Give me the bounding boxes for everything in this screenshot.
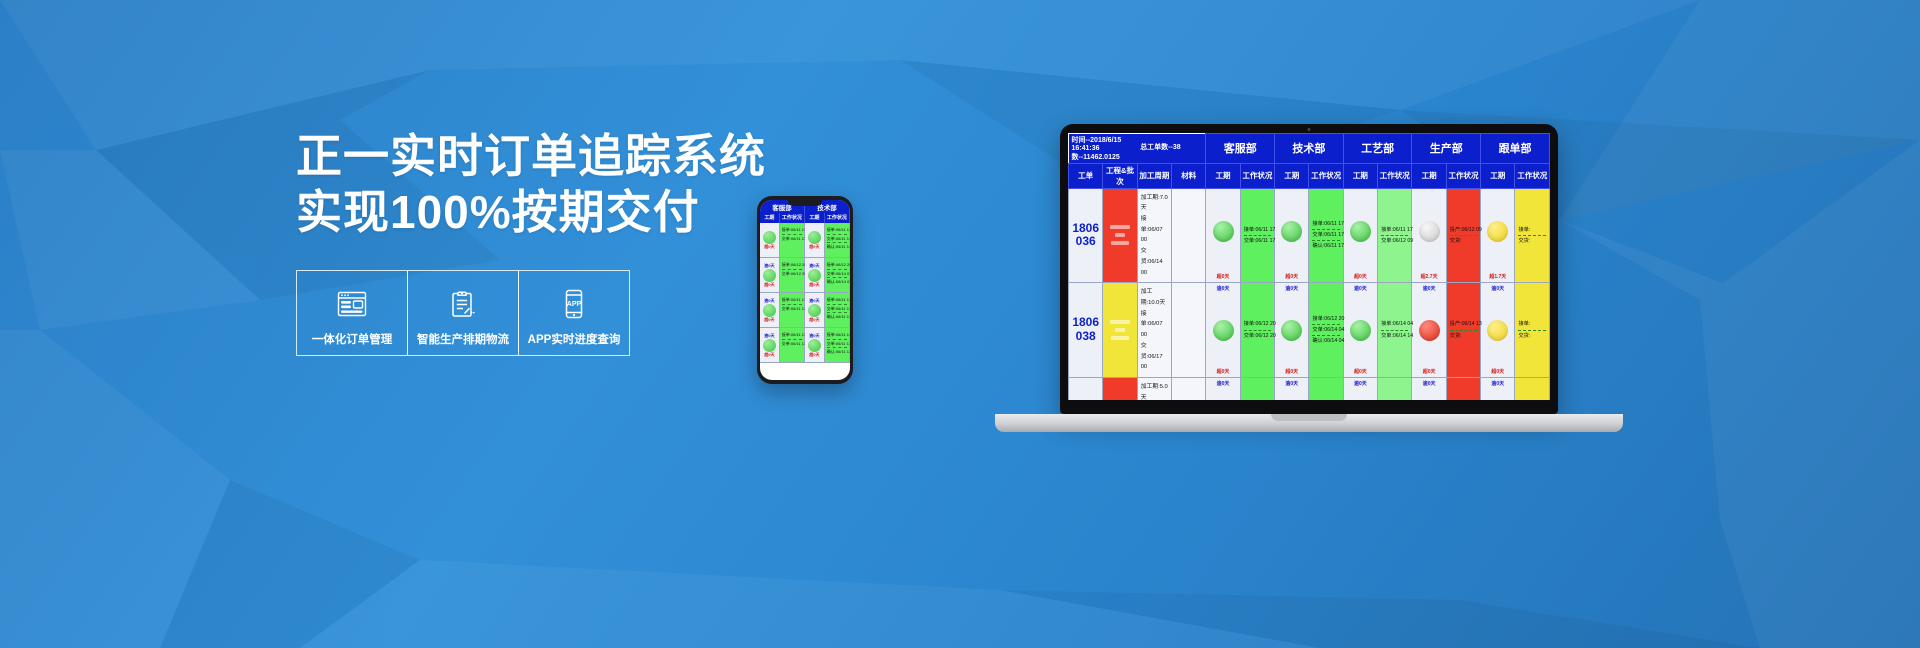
- column-header-生产部-工作状况: 工作状况: [1446, 163, 1480, 188]
- phone-status-line: 接单:06/11 17: [782, 296, 802, 305]
- info-bar-right: 总工单数--38: [1137, 134, 1206, 164]
- column-header-客服部-工作状况: 工作状况: [1240, 163, 1274, 188]
- status-dot-icon: [1487, 320, 1508, 341]
- phone-status-line: 交单:06/11 17: [827, 305, 847, 314]
- phone-column-header: 工期 工作状况 工期 工作状况: [760, 213, 850, 223]
- status-line: 确认:06/14 04: [1312, 336, 1339, 346]
- phone-status-line: 交单:06/11 17: [782, 305, 802, 313]
- period-line: 交货:06/14 00: [1141, 246, 1168, 278]
- duration-tag-top: 逾0天: [1491, 285, 1504, 292]
- dept-header-1: 技术部: [1275, 134, 1344, 164]
- status-dot-icon: [808, 231, 821, 244]
- status-dot-icon: [808, 339, 821, 352]
- phone-tag-top: 逾0天: [760, 333, 779, 339]
- period-line: 加工期:7.0天: [1141, 193, 1168, 214]
- phone-status-line: 交单:06/11 17: [782, 340, 802, 348]
- laptop-base: [995, 414, 1623, 432]
- phone-table-row[interactable]: 逾0天超0天接单:06/11 17交单:06/11 17逾0天超0天接单:06/…: [760, 293, 850, 328]
- phone-status-cell: 接单:06/11 17交单:06/11 17: [780, 328, 805, 362]
- feature-label: APP实时进度查询: [528, 331, 621, 347]
- status-line: 接单:06/12 20: [1244, 319, 1271, 330]
- status-dot-icon: [1213, 320, 1234, 341]
- status-line: 接单:06/11 17: [1312, 219, 1339, 230]
- phone-tag-bottom: 超0天: [760, 317, 779, 323]
- column-header-加工周期: 加工周期: [1137, 163, 1171, 188]
- phone-status-line: 接单:06/11 17: [782, 226, 802, 235]
- phone-status-line: 交单:06/11 17: [782, 235, 802, 243]
- status-line: 交货:: [1518, 236, 1546, 246]
- processing-period-cell: 加工期:7.0天接单:06/07 00交货:06/14 00: [1137, 188, 1171, 283]
- phone-tag-top: 逾0天: [760, 263, 779, 269]
- phone-tag-bottom: 超0天: [805, 244, 824, 250]
- work-order-cell[interactable]: 1806039: [1069, 378, 1103, 401]
- duration-tag-top: 逾0天: [1423, 380, 1436, 387]
- status-line: 接单:: [1518, 319, 1546, 330]
- feature-item-order-management[interactable]: 一体化订单管理: [296, 270, 408, 356]
- table-row[interactable]: 1806039加工期:5.0天接单:06/09 00交货:06/14 00逾0天…: [1069, 378, 1550, 401]
- phone-col-0: 工期: [760, 213, 780, 223]
- feature-item-production-scheduling[interactable]: 智能生产排期物流: [407, 270, 519, 356]
- work-status-cell-工艺部[interactable]: 接单:06/11 17交单:06/12 09: [1378, 378, 1412, 401]
- phone-status-line: 交单:06/11 17: [827, 340, 847, 349]
- status-line: 交货:: [1450, 236, 1477, 246]
- period-line: 接单:06/07 00: [1141, 214, 1168, 246]
- duration-cell-跟单部: 逾0天超0天: [1481, 283, 1515, 378]
- status-dot-icon: [808, 304, 821, 317]
- work-status-cell-生产部[interactable]: 投产:06/12 09交货:: [1446, 378, 1480, 401]
- feature-label: 一体化订单管理: [312, 331, 393, 347]
- period-line: 交货:06/17 00: [1141, 341, 1168, 373]
- work-status-cell-技术部[interactable]: 接单:06/11 17交单:06/11 17确认:06/11 17: [1309, 188, 1343, 283]
- status-line: 接单:: [1518, 225, 1546, 236]
- phone-status-cell: 接单:06/11 17交单:06/11 17: [780, 223, 805, 257]
- dept-header-3: 生产部: [1412, 134, 1481, 164]
- status-line: 交单:06/12 09: [1381, 236, 1408, 246]
- laptop-screen[interactable]: 时间--2018/6/15 16:41:36 数--11462.0125 总工单…: [1068, 133, 1550, 400]
- work-status-cell-客服部[interactable]: 接单:06/11 17交单:06/11 17: [1240, 188, 1274, 283]
- status-dot-icon: [1350, 320, 1371, 341]
- phone-status-line: 接单:06/11 17: [827, 296, 847, 305]
- order-tracking-table[interactable]: 时间--2018/6/15 16:41:36 数--11462.0125 总工单…: [1068, 133, 1550, 400]
- duration-tag-bottom: 超0天: [1423, 368, 1436, 375]
- status-line: 交单:06/11 17: [1244, 236, 1271, 246]
- headline-line-2: 实现100%按期交付: [296, 184, 816, 240]
- column-header-工程&批次: 工程&批次: [1103, 163, 1137, 188]
- status-dot-icon: [1281, 221, 1302, 242]
- phone-tag-bottom: 超0天: [760, 282, 779, 288]
- work-status-cell-工艺部[interactable]: 接单:06/11 17交单:06/12 09: [1378, 188, 1412, 283]
- status-dot-icon: [763, 304, 776, 317]
- work-status-cell-客服部[interactable]: 接单:06/12 20交单:06/12 20: [1240, 283, 1274, 378]
- period-line: 加工期:10.0天: [1141, 287, 1168, 308]
- duration-cell-工艺部: 逾0天超0天: [1343, 283, 1377, 378]
- duration-cell-工艺部: 逾0天超0天: [1343, 378, 1377, 401]
- phone-tag-bottom: 超0天: [805, 317, 824, 323]
- app-icon-text: APP: [567, 301, 582, 308]
- column-header-工艺部-工作状况: 工作状况: [1378, 163, 1412, 188]
- phone-mockup: 客服部 技术部 工期 工作状况 工期 工作状况 超0天接单:06/11 17交单…: [757, 196, 853, 384]
- period-line: 接单:06/07 00: [1141, 309, 1168, 341]
- duration-cell-客服部: 逾0天超0天: [1206, 378, 1240, 401]
- project-batch-cell: [1103, 283, 1137, 378]
- column-header-工艺部-工期: 工期: [1343, 163, 1377, 188]
- status-line: 交单:06/12 20: [1244, 331, 1271, 341]
- duration-tag-bottom: 超0天: [1491, 368, 1504, 375]
- phone-status-cell: 接单:06/12 20交单:06/14 07确认:06/14 07: [825, 258, 850, 292]
- phone-status-line: 接单:06/11 17: [782, 331, 802, 340]
- dept-header-0: 客服部: [1206, 134, 1275, 164]
- column-header-材料: 材料: [1172, 163, 1206, 188]
- info-number: 数--11462.0125: [1072, 152, 1135, 162]
- status-dot-icon: [1419, 320, 1440, 341]
- status-line: 交单:06/14 14: [1381, 331, 1408, 341]
- duration-tag-bottom: 超0天: [1354, 368, 1367, 375]
- headline-line-1: 正一实时订单追踪系统: [296, 130, 766, 182]
- phone-table-body[interactable]: 超0天接单:06/11 17交单:06/11 17超0天接单:06/11 17交…: [760, 223, 850, 363]
- duration-cell-生产部: 逾0天超0天: [1412, 283, 1446, 378]
- status-line: 接单:06/14 04: [1381, 319, 1408, 330]
- work-status-cell-跟单部[interactable]: 接单:交货:: [1515, 283, 1550, 378]
- feature-list: 一体化订单管理 智能生产排期物流: [296, 270, 816, 356]
- phone-duration-cell: 逾0天超0天: [805, 328, 825, 362]
- phone-status-line: 交单:06/11 17: [827, 235, 847, 244]
- phone-tag-top: 逾0天: [805, 263, 824, 269]
- phone-status-cell: 接单:06/11 17交单:06/11 17: [780, 293, 805, 327]
- phone-table-row[interactable]: 超0天接单:06/11 17交单:06/11 17超0天接单:06/11 17交…: [760, 223, 850, 258]
- column-header-生产部-工期: 工期: [1412, 163, 1446, 188]
- phone-duration-cell: 逾0天超0天: [760, 328, 780, 362]
- status-line: 接单:06/11 17: [1244, 225, 1271, 236]
- duration-tag-top: 逾0天: [1217, 285, 1230, 292]
- duration-tag-bottom: 超2.7天: [1421, 273, 1438, 280]
- phone-status-line: 接单:06/11 17: [827, 331, 847, 340]
- duration-tag-bottom: 超0天: [1285, 273, 1298, 280]
- phone-status-line: 确认:06/14 07: [827, 278, 847, 286]
- duration-cell-生产部: 逾0天超0天: [1412, 378, 1446, 401]
- work-status-cell-跟单部[interactable]: 接单:交货:: [1515, 188, 1550, 283]
- duration-cell-跟单部: 超1.7天: [1481, 188, 1515, 283]
- phone-table-row[interactable]: 逾0天超0天接单:06/12 20交单:06/12 20逾0天超0天接单:06/…: [760, 258, 850, 293]
- phone-duration-cell: 逾0天超0天: [805, 293, 825, 327]
- column-header-技术部-工期: 工期: [1275, 163, 1309, 188]
- duration-cell-技术部: 逾0天超0天: [1275, 283, 1309, 378]
- status-dot-icon: [1281, 320, 1302, 341]
- phone-tag-bottom: 超0天: [760, 352, 779, 358]
- duration-cell-跟单部: 逾0天超0天: [1481, 378, 1515, 401]
- work-status-cell-客服部[interactable]: 接单:06/11 17交单:06/11 17: [1240, 378, 1274, 401]
- status-dot-icon: [1487, 221, 1508, 242]
- hero-banner: 正一实时订单追踪系统 实现100%按期交付: [0, 0, 1920, 648]
- feature-item-app-progress-query[interactable]: APP APP实时进度查询: [518, 270, 630, 356]
- status-line: 交单:06/11 17: [1312, 230, 1339, 241]
- duration-cell-生产部: 超2.7天: [1412, 188, 1446, 283]
- phone-status-line: 接单:06/12 20: [782, 261, 802, 270]
- phone-col-2: 工期: [805, 213, 825, 223]
- work-order-cell[interactable]: 1806038: [1069, 283, 1103, 378]
- phone-duration-cell: 逾0天超0天: [760, 258, 780, 292]
- phone-status-line: 确认:06/11 17: [827, 348, 847, 356]
- duration-tag-top: 逾0天: [1354, 380, 1367, 387]
- phone-notch: [788, 200, 822, 206]
- dashboard-window-icon: [337, 284, 367, 324]
- duration-cell-客服部: 逾0天超0天: [1206, 283, 1240, 378]
- processing-period-cell: 加工期:10.0天接单:06/07 00交货:06/17 00: [1137, 283, 1171, 378]
- status-line: 投产:06/12 09: [1450, 225, 1477, 236]
- status-dot-icon: [763, 231, 776, 244]
- phone-status-line: 交单:06/14 07: [827, 270, 847, 279]
- project-batch-cell: [1103, 378, 1137, 401]
- phone-status-line: 确认:06/11 17: [827, 243, 847, 251]
- phone-status-line: 确认:06/11 17: [827, 313, 847, 321]
- phone-status-cell: 接单:06/11 17交单:06/11 17确认:06/11 17: [825, 223, 850, 257]
- processing-period-cell: 加工期:5.0天接单:06/09 00交货:06/14 00: [1137, 378, 1171, 401]
- info-time: 时间--2018/6/15 16:41:36: [1072, 135, 1135, 152]
- duration-tag-top: 逾0天: [1491, 380, 1504, 387]
- work-status-cell-跟单部[interactable]: 接单:交货:: [1515, 378, 1550, 401]
- table-row[interactable]: 1806038加工期:10.0天接单:06/07 00交货:06/17 00逾0…: [1069, 283, 1550, 378]
- duration-tag-bottom: 超0天: [1217, 273, 1230, 280]
- phone-tag-bottom: 超0天: [805, 352, 824, 358]
- status-line: 接单:06/12 20: [1312, 314, 1339, 325]
- status-line: 交单:06/14 04: [1312, 325, 1339, 336]
- phone-col-1: 工作状况: [780, 213, 805, 223]
- phone-tag-bottom: 超0天: [760, 244, 779, 250]
- table-row[interactable]: 1806036加工期:7.0天接单:06/07 00交货:06/14 00超0天…: [1069, 188, 1550, 283]
- page-title: 正一实时订单追踪系统 实现100%按期交付: [296, 128, 816, 240]
- phone-status-cell: 接单:06/11 17交单:06/11 17确认:06/11 17: [825, 293, 850, 327]
- column-header-技术部-工作状况: 工作状况: [1309, 163, 1343, 188]
- phone-duration-cell: 逾0天超0天: [760, 293, 780, 327]
- duration-cell-技术部: 逾0天超0天: [1275, 378, 1309, 401]
- status-line: 投产:06/14 13: [1450, 319, 1477, 330]
- status-dot-icon: [1350, 221, 1371, 242]
- phone-status-line: 接单:06/12 20: [827, 261, 847, 270]
- status-dot-icon: [1213, 221, 1234, 242]
- duration-tag-top: 逾0天: [1285, 285, 1298, 292]
- duration-tag-top: 逾0天: [1217, 380, 1230, 387]
- webcam-icon: [1308, 128, 1311, 131]
- phone-status-cell: 接单:06/11 17交单:06/11 17确认:06/11 17: [825, 328, 850, 362]
- dept-header-4: 跟单部: [1481, 134, 1550, 164]
- material-cell: [1172, 283, 1206, 378]
- feature-label: 智能生产排期物流: [417, 331, 509, 347]
- phone-tag-top: 逾0天: [805, 333, 824, 339]
- phone-col-3: 工作状况: [825, 213, 850, 223]
- project-batch-cell: [1103, 188, 1137, 283]
- column-header-客服部-工期: 工期: [1206, 163, 1240, 188]
- phone-status-line: 接单:06/11 17: [827, 226, 847, 235]
- status-line: 交货:: [1450, 331, 1477, 341]
- status-dot-icon: [763, 269, 776, 282]
- status-line: 确认:06/11 17: [1312, 241, 1339, 251]
- phone-status-cell: 接单:06/12 20交单:06/12 20: [780, 258, 805, 292]
- duration-cell-工艺部: 超0天: [1343, 188, 1377, 283]
- duration-cell-技术部: 超0天: [1275, 188, 1309, 283]
- phone-table-row[interactable]: 逾0天超0天接单:06/11 17交单:06/11 17逾0天超0天接单:06/…: [760, 328, 850, 363]
- column-header-跟单部-工作状况: 工作状况: [1515, 163, 1550, 188]
- clipboard-checklist-icon: [450, 284, 476, 324]
- order-table-body[interactable]: 1806036加工期:7.0天接单:06/07 00交货:06/14 00超0天…: [1069, 188, 1550, 400]
- dept-header-2: 工艺部: [1343, 134, 1412, 164]
- duration-tag-bottom: 超0天: [1354, 273, 1367, 280]
- column-header-row: 工单工程&批次加工周期材料工期工作状况工期工作状况工期工作状况工期工作状况工期工…: [1069, 163, 1550, 188]
- mobile-app-icon: APP: [563, 284, 585, 324]
- column-header-工单: 工单: [1069, 163, 1103, 188]
- info-bar-left: 时间--2018/6/15 16:41:36 数--11462.0125: [1069, 134, 1138, 164]
- status-line: 交货:: [1518, 331, 1546, 341]
- phone-duration-cell: 逾0天超0天: [805, 258, 825, 292]
- phone-tag-bottom: 超0天: [805, 282, 824, 288]
- info-total: 总工单数--38: [1140, 142, 1202, 152]
- status-dot-icon: [1419, 221, 1440, 242]
- duration-cell-客服部: 超0天: [1206, 188, 1240, 283]
- period-line: 加工期:5.0天: [1141, 382, 1168, 400]
- work-order-cell[interactable]: 1806036: [1069, 188, 1103, 283]
- work-status-cell-技术部[interactable]: 接单:06/11 17交单:06/11 17确认:06/11 17: [1309, 378, 1343, 401]
- polygon-background: [0, 0, 1920, 648]
- work-status-cell-生产部[interactable]: 投产:06/12 09交货:: [1446, 188, 1480, 283]
- laptop-lid: 时间--2018/6/15 16:41:36 数--11462.0125 总工单…: [1060, 124, 1558, 414]
- status-dot-icon: [808, 269, 821, 282]
- phone-screen[interactable]: 客服部 技术部 工期 工作状况 工期 工作状况 超0天接单:06/11 17交单…: [760, 200, 850, 380]
- info-bar-row: 时间--2018/6/15 16:41:36 数--11462.0125 总工单…: [1069, 134, 1550, 164]
- status-line: 接单:06/11 17: [1381, 225, 1408, 236]
- material-cell: [1172, 378, 1206, 401]
- phone-tag-top: 逾0天: [760, 298, 779, 304]
- duration-tag-bottom: 超0天: [1217, 368, 1230, 375]
- duration-tag-top: 逾0天: [1423, 285, 1436, 292]
- work-status-cell-工艺部[interactable]: 接单:06/14 04交单:06/14 14: [1378, 283, 1412, 378]
- duration-tag-top: 逾0天: [1285, 380, 1298, 387]
- status-dot-icon: [763, 339, 776, 352]
- work-status-cell-生产部[interactable]: 投产:06/14 13交货:: [1446, 283, 1480, 378]
- phone-tag-top: 逾0天: [805, 298, 824, 304]
- duration-tag-bottom: 超0天: [1285, 368, 1298, 375]
- phone-duration-cell: 超0天: [805, 223, 825, 257]
- phone-duration-cell: 超0天: [760, 223, 780, 257]
- duration-tag-bottom: 超1.7天: [1489, 273, 1506, 280]
- phone-status-line: 交单:06/12 20: [782, 270, 802, 278]
- work-status-cell-技术部[interactable]: 接单:06/12 20交单:06/14 04确认:06/14 04: [1309, 283, 1343, 378]
- duration-tag-top: 逾0天: [1354, 285, 1367, 292]
- material-cell: [1172, 188, 1206, 283]
- hero-copy: 正一实时订单追踪系统 实现100%按期交付: [296, 128, 816, 356]
- column-header-跟单部-工期: 工期: [1481, 163, 1515, 188]
- laptop-mockup: 时间--2018/6/15 16:41:36 数--11462.0125 总工单…: [1060, 124, 1623, 432]
